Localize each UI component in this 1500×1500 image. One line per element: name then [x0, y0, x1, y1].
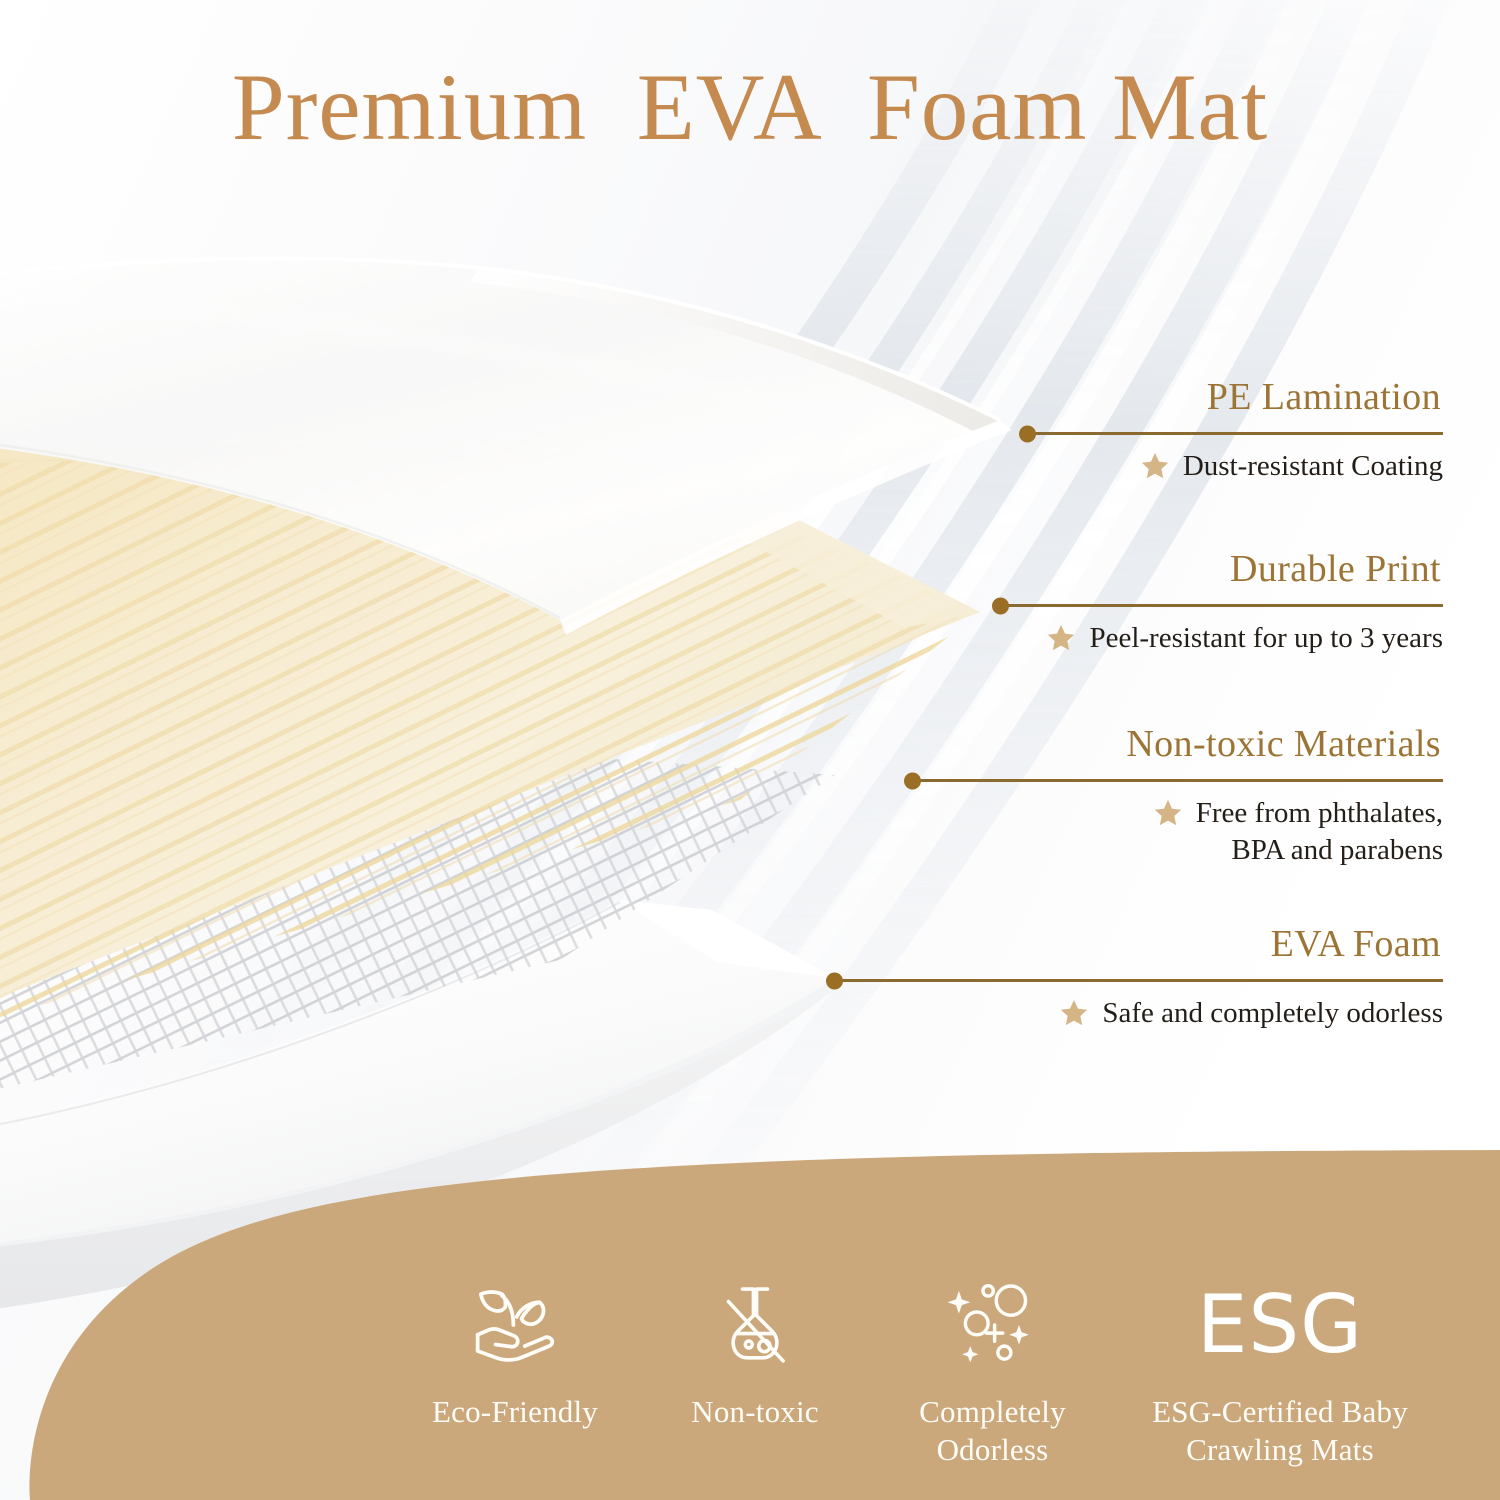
- callout-detail-row: Free from phthalates, BPA and parabens: [910, 795, 1443, 868]
- callout-eva-foam: EVA Foam Safe and completely odorless: [832, 925, 1443, 1032]
- leader-dot-icon: [1019, 425, 1036, 442]
- callout-detail-row: Peel-resistant for up to 3 years: [998, 620, 1443, 657]
- callout-leader-line: [832, 979, 1443, 982]
- callout-detail: Safe and completely odorless: [1102, 995, 1443, 1032]
- page-title: Premium EVA Foam Mat: [0, 58, 1500, 158]
- star-icon: [1153, 798, 1183, 828]
- callout-detail-row: Dust-resistant Coating: [1025, 448, 1443, 485]
- badge-label: Eco-Friendly: [390, 1393, 640, 1431]
- callout-durable-print: Durable Print Peel-resistant for up to 3…: [998, 550, 1443, 657]
- star-icon: [1140, 451, 1170, 481]
- callout-pe-lamination: PE Lamination Dust-resistant Coating: [1025, 378, 1443, 485]
- callout-leader-line: [1025, 432, 1443, 435]
- leader-dot-icon: [904, 772, 921, 789]
- badge-non-toxic: Non-toxic: [640, 1272, 870, 1431]
- callout-leader-line: [910, 779, 1443, 782]
- callout-leader-line: [998, 604, 1443, 607]
- badge-list: Eco-Friendly Non-toxic: [390, 1272, 1500, 1470]
- hand-sprout-icon: [463, 1273, 567, 1377]
- callout-non-toxic-materials: Non-toxic Materials Free from phthalates…: [910, 725, 1443, 868]
- callout-detail: Peel-resistant for up to 3 years: [1089, 620, 1443, 657]
- leader-dot-icon: [826, 972, 843, 989]
- leader-dot-icon: [992, 597, 1009, 614]
- callout-detail: Free from phthalates, BPA and parabens: [1196, 795, 1443, 868]
- star-icon: [1046, 623, 1076, 653]
- callout-heading: EVA Foam: [832, 925, 1443, 963]
- badge-esg-certified: ESG ESG-Certified Baby Crawling Mats: [1115, 1272, 1445, 1470]
- callout-heading: Durable Print: [998, 550, 1443, 588]
- esg-text-mark: ESG: [1197, 1285, 1363, 1365]
- callout-heading: PE Lamination: [1025, 378, 1443, 416]
- layer-pe-lamination: [0, 258, 1012, 635]
- callout-heading: Non-toxic Materials: [910, 725, 1443, 763]
- callout-detail: Dust-resistant Coating: [1183, 448, 1443, 485]
- badge-label: Completely Odorless: [870, 1393, 1115, 1470]
- badge-completely-odorless: Completely Odorless: [870, 1272, 1115, 1470]
- badge-label: ESG-Certified Baby Crawling Mats: [1115, 1393, 1445, 1470]
- badge-eco-friendly: Eco-Friendly: [390, 1272, 640, 1431]
- star-icon: [1059, 998, 1089, 1028]
- sparkle-bubbles-icon: [941, 1273, 1045, 1377]
- badge-label: Non-toxic: [640, 1393, 870, 1431]
- callout-detail-row: Safe and completely odorless: [832, 995, 1443, 1032]
- no-flask-icon: [705, 1275, 805, 1375]
- product-infographic: Premium EVA Foam Mat PE Lamination Dust-…: [0, 0, 1500, 1500]
